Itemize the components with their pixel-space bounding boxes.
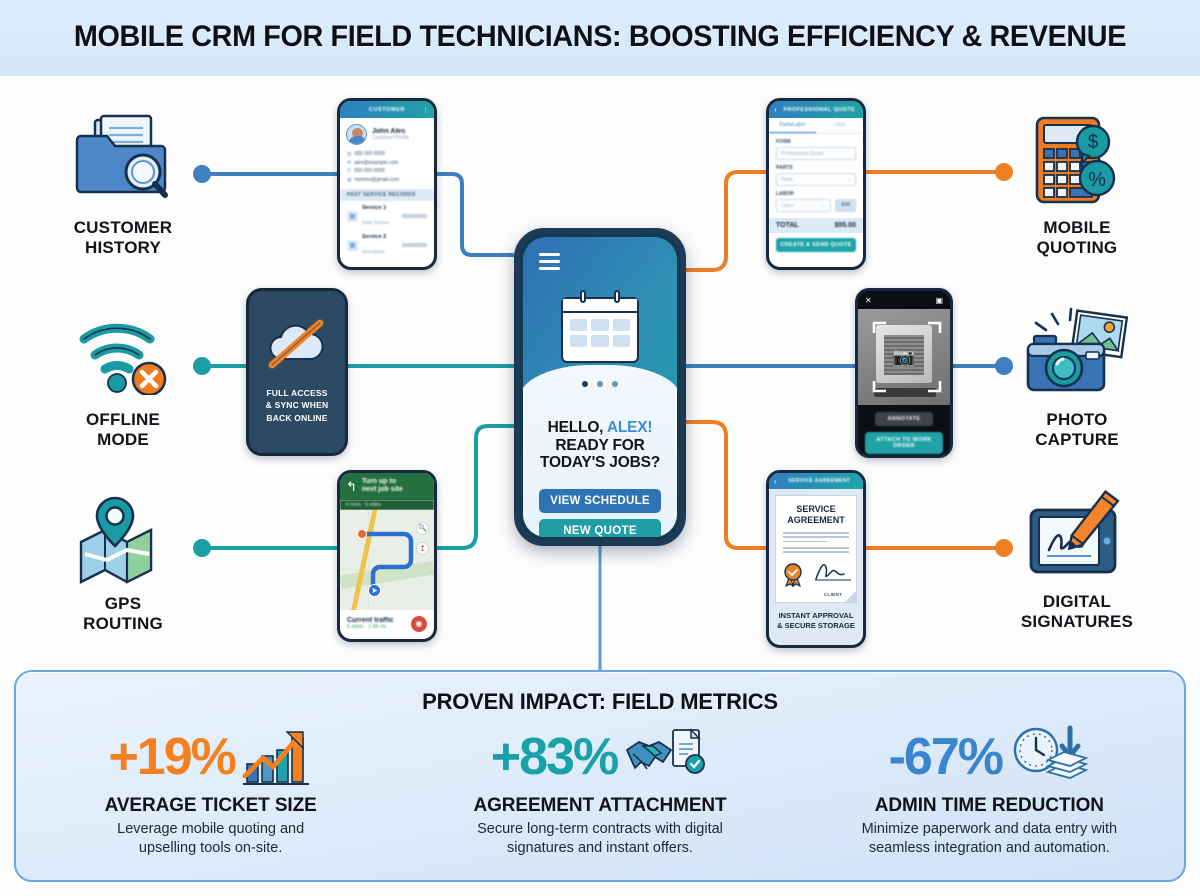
contact-row: ✉alex@example.com <box>347 160 427 166</box>
service-row[interactable]: ▦ Service 2Description 00/00/0000 <box>347 234 427 258</box>
offline-caption-line3: BACK ONLINE <box>249 412 345 424</box>
more-icon[interactable]: ⋮ <box>422 106 429 114</box>
field-value[interactable]: Labor⌄ <box>776 199 831 212</box>
metric-desc-line1: Leverage mobile quoting and <box>28 820 393 839</box>
agreement-title-bar: SERVICE AGREEMENT <box>781 478 858 484</box>
feature-mobile-quoting[interactable]: $ $ % MOBILE QUOTING <box>982 108 1172 257</box>
metric-desc-line2: upselling tools on-site. <box>28 839 393 858</box>
feature-label: PHOTO CAPTURE <box>982 410 1172 449</box>
section-header: PAST SERVICE RECORDS <box>340 189 434 201</box>
add-item-button[interactable]: Add <box>835 199 856 212</box>
map-pin-icon <box>28 484 218 588</box>
contact-row: ✆000 000 0000 <box>347 168 427 174</box>
agreement-footer-line2: & SECURE STORAGE <box>769 621 863 631</box>
offline-caption-line1: FULL ACCESS <box>249 387 345 399</box>
card-photo-capture[interactable]: ✕ ▣ 📷 ANNOTATE ATTACH TO WORK ORDER <box>855 288 953 458</box>
award-seal-icon <box>783 563 803 592</box>
field-value[interactable]: Professional Quote <box>776 147 856 160</box>
route-meta: 6 mins · 5 miles <box>340 500 434 510</box>
tab-labor[interactable]: Labor <box>816 118 863 133</box>
signer-label: CLIENT <box>824 592 842 597</box>
greeting-line3: TODAY'S JOBS? <box>523 454 677 472</box>
turn-arrow-icon: ↰ <box>346 480 357 493</box>
metric-value: +19% <box>108 731 234 783</box>
metric-agreement-attachment: +83% AGREEMENT <box>405 721 794 857</box>
feature-offline-mode[interactable]: OFFLINE MODE <box>28 300 218 449</box>
viewfinder[interactable]: 📷 <box>858 309 950 405</box>
metric-desc-line1: Minimize paperwork and data entry with <box>807 820 1172 839</box>
field-value[interactable]: Parts⌄ <box>776 173 856 186</box>
camera-icon[interactable]: ▣ <box>935 296 943 305</box>
doc-title-line2: AGREEMENT <box>783 515 849 526</box>
agreement-document: SERVICE AGREEMENT <box>775 495 857 603</box>
person-icon: ◍ <box>347 151 351 157</box>
customer-name: John Ales <box>372 128 409 135</box>
direction-line1: Turn up to <box>362 478 403 486</box>
contact-row: ▤memox@gmail.com <box>347 177 427 183</box>
card-title: CUSTOMER <box>369 107 405 113</box>
metric-desc-line1: Secure long-term contracts with digital <box>417 820 782 839</box>
field-label: FORM <box>776 139 856 145</box>
metrics-title: PROVEN IMPACT: FIELD METRICS <box>16 689 1184 715</box>
annotate-button[interactable]: ANNOTATE <box>875 412 933 426</box>
feature-digital-signatures[interactable]: DIGITAL SIGNATURES <box>982 482 1172 631</box>
svg-text:%: % <box>1088 169 1106 191</box>
feature-customer-history[interactable]: CUSTOMER HISTORY <box>28 108 218 257</box>
cloud-off-icon <box>249 319 345 369</box>
pedestrian-icon[interactable]: ↥ <box>416 542 429 555</box>
central-phone-mockup[interactable]: HELLO, ALEX! READY FOR TODAY'S JOBS? VIE… <box>514 228 686 546</box>
total-label: TOTAL <box>776 222 835 229</box>
contact-row: ◍000 000 0000 <box>347 151 427 157</box>
hamburger-menu-icon[interactable] <box>539 253 560 274</box>
feature-label: DIGITAL SIGNATURES <box>982 592 1172 631</box>
back-arrow-icon[interactable]: ‹ <box>774 477 777 486</box>
card-mobile-quoting[interactable]: ‹ PROFESSIONAL QUOTE Parts/Labor Labor F… <box>766 98 866 270</box>
feature-label: CUSTOMER HISTORY <box>28 218 218 257</box>
doc-title-line1: SERVICE <box>783 504 849 515</box>
view-schedule-button[interactable]: VIEW SCHEDULE <box>539 489 661 513</box>
signature-tablet-icon <box>982 482 1172 586</box>
customer-subtitle: Customer Profile <box>372 135 409 141</box>
metric-name: AGREEMENT ATTACHMENT <box>417 795 782 817</box>
tab-parts-labor[interactable]: Parts/Labor <box>769 118 816 133</box>
metric-value: -67% <box>889 731 1002 783</box>
wifi-off-icon <box>28 300 218 404</box>
route-start-marker <box>357 529 367 539</box>
avatar <box>346 124 367 145</box>
offline-caption-line2: & SYNC WHEN <box>249 399 345 411</box>
feature-label: MOBILE QUOTING <box>982 218 1172 257</box>
greeting-text: HELLO, ALEX! READY FOR TODAY'S JOBS? <box>523 419 677 472</box>
metric-average-ticket-size: +19% <box>16 721 405 857</box>
feature-photo-capture[interactable]: PHOTO CAPTURE <box>982 300 1172 449</box>
recenter-icon[interactable]: ◉ <box>411 616 427 632</box>
greeting-prefix: HELLO, <box>548 419 607 436</box>
camera-icon <box>982 300 1172 404</box>
service-icon: ▦ <box>347 240 358 251</box>
calculator-icon: $ $ % <box>982 108 1172 212</box>
chevron-down-icon: ⌄ <box>822 203 826 209</box>
search-icon[interactable]: 🔍 <box>416 522 429 535</box>
folder-search-icon <box>28 108 218 212</box>
metric-value: +83% <box>491 731 617 783</box>
camera-shutter-icon: 📷 <box>893 347 915 368</box>
greeting-line2: READY FOR <box>523 437 677 455</box>
gps-footer-title: Current traffic <box>347 617 411 624</box>
gps-footer-sub: 5 mins · 1.06 mi <box>347 624 411 630</box>
metrics-panel: PROVEN IMPACT: FIELD METRICS +19% <box>14 670 1186 882</box>
card-offline-mode[interactable]: FULL ACCESS & SYNC WHEN BACK ONLINE <box>246 288 348 456</box>
handshake-document-icon <box>623 724 709 791</box>
metric-desc-line2: seamless integration and automation. <box>807 839 1172 858</box>
chevron-down-icon: ⌄ <box>847 177 851 183</box>
svg-text:$: $ <box>1088 132 1099 153</box>
field-label: PARTS <box>776 165 856 171</box>
card-digital-signature[interactable]: ‹ SERVICE AGREEMENT SERVICE AGREEMENT <box>766 470 866 648</box>
current-position-marker: ➤ <box>368 584 381 597</box>
greeting-username: ALEX! <box>607 419 653 436</box>
feature-label: OFFLINE MODE <box>28 410 218 449</box>
note-icon: ▤ <box>347 177 352 183</box>
card-gps-routing[interactable]: ↰ Turn up to next job site 6 mins · 5 mi… <box>337 470 437 642</box>
total-value: $55.00 <box>835 222 856 229</box>
direction-line2: next job site <box>362 486 403 494</box>
attach-work-order-button[interactable]: ATTACH TO WORK ORDER <box>865 432 943 454</box>
pager-dots[interactable] <box>582 381 618 387</box>
calendar-icon <box>561 297 639 363</box>
create-send-quote-button[interactable]: CREATE & SEND QUOTE <box>776 238 856 252</box>
metric-name: AVERAGE TICKET SIZE <box>28 795 393 817</box>
bar-chart-up-icon <box>241 724 313 791</box>
new-quote-button[interactable]: NEW QUOTE <box>539 519 661 537</box>
feature-gps-routing[interactable]: GPS ROUTING <box>28 484 218 633</box>
metric-name: ADMIN TIME REDUCTION <box>807 795 1172 817</box>
feature-label: GPS ROUTING <box>28 594 218 633</box>
service-row[interactable]: ▦ Service 1Basic Service 00/00/0000 <box>347 205 427 229</box>
clock-papers-down-icon <box>1008 724 1090 791</box>
field-label: LABOR <box>776 191 856 197</box>
service-icon: ▦ <box>347 211 358 222</box>
phone-screen: HELLO, ALEX! READY FOR TODAY'S JOBS? VIE… <box>523 237 677 537</box>
signature-icon <box>812 561 858 588</box>
back-arrow-icon[interactable]: ‹ <box>774 105 777 114</box>
map-area[interactable]: ➤ 🔍 ↥ <box>340 510 434 610</box>
phone-icon: ✆ <box>347 168 351 174</box>
metric-admin-time-reduction: -67% ADMIN TIME REDUCTION <box>795 721 1184 857</box>
agreement-footer-line1: INSTANT APPROVAL <box>769 611 863 621</box>
infographic-canvas: MOBILE CRM FOR FIELD TECHNICIANS: BOOSTI… <box>0 0 1200 896</box>
close-icon[interactable]: ✕ <box>865 296 935 305</box>
mail-icon: ✉ <box>347 160 351 166</box>
card-customer-history[interactable]: CUSTOMER ⋮ John Ales Customer Profile ◍0… <box>337 98 437 270</box>
metric-desc-line2: signatures and instant offers. <box>417 839 782 858</box>
quote-title: PROFESSIONAL QUOTE <box>781 107 858 113</box>
